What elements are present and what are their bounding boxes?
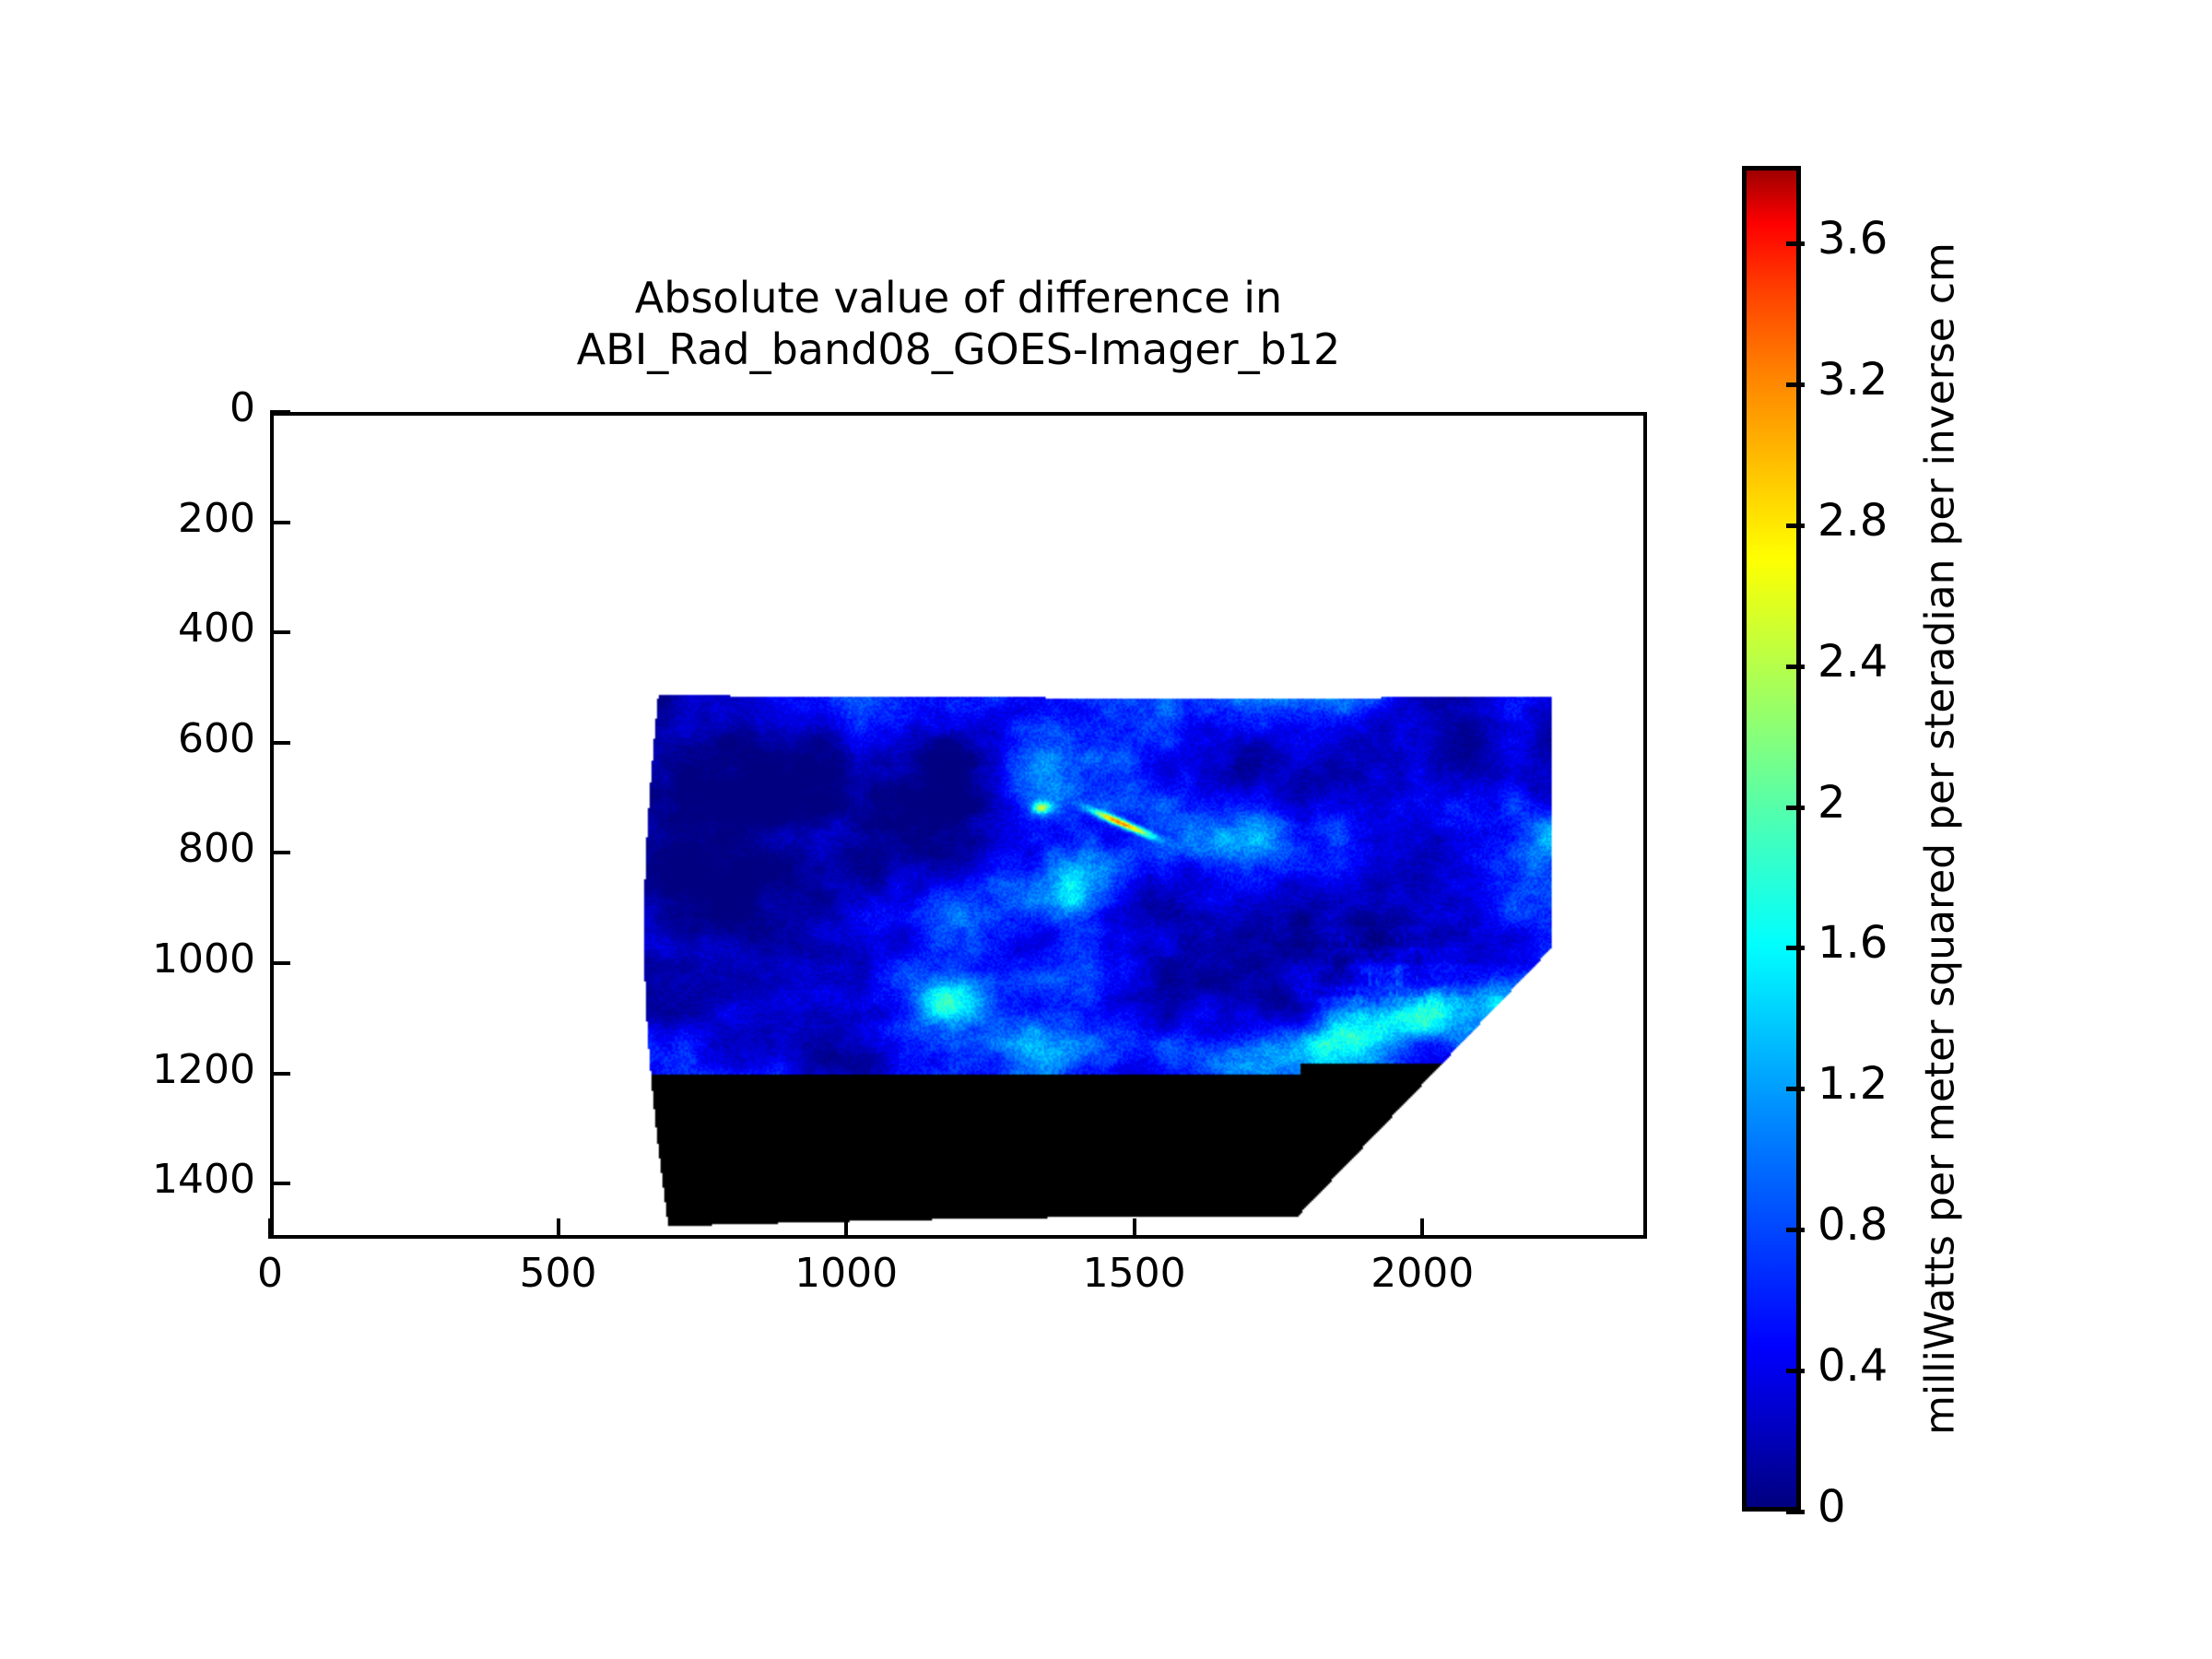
- colorbar-tick-label: 2.8: [1818, 495, 1888, 547]
- colorbar-tick: [1786, 1087, 1805, 1091]
- x-axis-tick-label: 2000: [1371, 1250, 1474, 1297]
- y-axis-tick: [270, 521, 290, 524]
- colorbar-tick-label: 0.8: [1818, 1199, 1888, 1251]
- colorbar-tick-label: 1.2: [1818, 1058, 1888, 1110]
- colorbar: [1742, 166, 1801, 1512]
- colorbar-tick-label: 1.6: [1818, 917, 1888, 969]
- colorbar-tick: [1786, 665, 1805, 669]
- colorbar-tick: [1786, 382, 1805, 387]
- y-axis-tick: [270, 630, 290, 634]
- colorbar-tick: [1786, 946, 1805, 950]
- colorbar-tick-label: 2.4: [1818, 636, 1888, 688]
- x-axis-tick: [844, 1218, 848, 1239]
- colorbar-tick-label: 0: [1818, 1481, 1846, 1533]
- colorbar-tick: [1786, 1228, 1805, 1232]
- y-axis-tick-label: 1200: [152, 1046, 255, 1093]
- colorbar-tick: [1786, 1369, 1805, 1373]
- y-axis-tick: [270, 961, 290, 965]
- heatmap-image: [274, 416, 1643, 1235]
- x-axis-tick: [268, 1218, 272, 1239]
- heatmap-axes: [270, 412, 1647, 1239]
- y-axis-tick-label: 1000: [152, 935, 255, 982]
- y-axis-tick: [270, 1072, 290, 1076]
- colorbar-gradient: [1747, 171, 1796, 1507]
- y-axis-tick-label: 400: [178, 605, 255, 652]
- y-axis-tick: [270, 741, 290, 745]
- y-axis-tick-label: 600: [178, 715, 255, 762]
- colorbar-tick-label: 0.4: [1818, 1340, 1888, 1392]
- x-axis-tick: [1133, 1218, 1136, 1239]
- y-axis-tick-label: 200: [178, 495, 255, 542]
- y-axis-tick-label: 1400: [152, 1156, 255, 1203]
- y-axis-tick: [270, 851, 290, 854]
- y-axis-tick: [270, 1182, 290, 1185]
- page-title: Absolute value of difference in ABI_Rad_…: [270, 272, 1647, 375]
- y-axis-tick-label: 0: [229, 384, 255, 431]
- x-axis-tick-label: 0: [257, 1250, 283, 1297]
- x-axis-tick-label: 500: [520, 1250, 597, 1297]
- colorbar-tick: [1786, 806, 1805, 810]
- colorbar-tick: [1786, 1510, 1805, 1514]
- colorbar-tick: [1786, 524, 1805, 528]
- colorbar-tick-label: 3.6: [1818, 213, 1888, 265]
- figure-canvas: Absolute value of difference in ABI_Rad_…: [0, 0, 2212, 1659]
- x-axis-tick: [557, 1218, 560, 1239]
- colorbar-tick: [1786, 241, 1805, 246]
- x-axis-tick: [1420, 1218, 1424, 1239]
- colorbar-tick-label: 3.2: [1818, 354, 1888, 406]
- colorbar-tick-label: 2: [1818, 777, 1846, 829]
- x-axis-tick-label: 1000: [794, 1250, 898, 1297]
- y-axis-tick-label: 800: [178, 825, 255, 872]
- y-axis-tick: [270, 410, 290, 414]
- x-axis-tick-label: 1500: [1083, 1250, 1186, 1297]
- colorbar-label: milliWatts per meter squared per steradi…: [1917, 242, 1964, 1435]
